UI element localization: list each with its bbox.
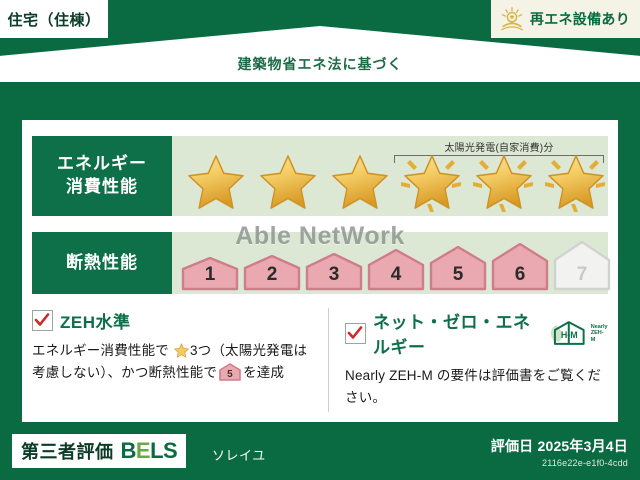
insulation-level-value: 2 xyxy=(267,265,278,291)
insulation-level-3: 3 xyxy=(304,265,364,291)
star-6-solar xyxy=(540,146,610,212)
label-card: エネルギー 消費性能 太陽光発電(自家消費)分 xyxy=(22,120,618,422)
star-4-solar xyxy=(396,146,466,212)
star-rating xyxy=(180,146,610,212)
insulation-label: 断熱性能 xyxy=(66,252,138,275)
label-title: 省エネ性能ラベル xyxy=(0,76,640,113)
evaluation-id: 2116e22e-e1f0-4cdd xyxy=(491,458,628,468)
evaluation-info: 評価日 2025年3月4日 2116e22e-e1f0-4cdd xyxy=(491,436,628,468)
zeh-body-part1: エネルギー消費性能で xyxy=(32,343,169,358)
zeh-body-part3: を達成 xyxy=(243,365,284,380)
insulation-level-value: 4 xyxy=(391,265,402,291)
insulation-level-value: 6 xyxy=(515,265,526,291)
sun-icon xyxy=(499,6,525,32)
net-zero-energy-note: ネット・ゼロ・エネルギー H-M Nearly ZEH-M Nearly xyxy=(328,308,608,412)
insulation-performance-value-area: 1 2 3 xyxy=(172,232,608,294)
insulation-performance-label-box: 断熱性能 xyxy=(32,232,172,294)
label-footer: 第三者評価 BELS ソレイユ 評価日 2025年3月4日 2116e22e-e… xyxy=(0,428,640,480)
insulation-level-6: 6 xyxy=(490,265,550,291)
zeh-m-logo-text: H-M xyxy=(561,330,578,340)
property-name: ソレイユ xyxy=(212,445,266,464)
check-icon xyxy=(34,312,50,328)
insulation-level-1: 1 xyxy=(180,265,240,291)
zeh-m-sub-line2: ZEH-M xyxy=(591,330,604,342)
title-block: 建築物省エネ法に基づく 省エネ性能ラベル xyxy=(0,54,640,113)
insulation-level-7: 7 xyxy=(552,265,612,291)
star-5-solar xyxy=(468,146,538,212)
star-icon xyxy=(547,154,605,210)
zeh-m-logo: H-M Nearly ZEH-M xyxy=(547,319,608,347)
notes-section: ZEH水準 エネルギー消費性能で 3つ（太陽光発電は考慮しない）、かつ断熱性能で… xyxy=(32,308,608,412)
net-zero-energy-title: ネット・ゼロ・エネルギー xyxy=(373,308,536,358)
bels-logo: BELS xyxy=(121,438,178,464)
energy-label-line1: エネルギー xyxy=(57,153,147,176)
star-3 xyxy=(324,146,394,212)
star-icon xyxy=(403,154,461,210)
insulation-performance-row: 断熱性能 1 2 xyxy=(32,232,608,294)
net-zero-energy-body: Nearly ZEH-M の要件は評価書をご覧ください。 xyxy=(345,365,608,409)
insulation-level-5: 5 xyxy=(428,265,488,291)
energy-label-line2: 消費性能 xyxy=(66,176,138,199)
insulation-level-value: 1 xyxy=(205,265,216,291)
bels-letter-2: E xyxy=(136,438,150,463)
inline-house-badge: 5 xyxy=(219,363,241,381)
insulation-level-2: 2 xyxy=(242,265,302,291)
zeh-m-logo-sub: Nearly ZEH-M xyxy=(591,324,608,347)
insulation-level-value: 3 xyxy=(329,265,340,291)
net-zero-energy-header: ネット・ゼロ・エネルギー H-M Nearly ZEH-M xyxy=(345,308,608,358)
zeh-standard-note: ZEH水準 エネルギー消費性能で 3つ（太陽光発電は考慮しない）、かつ断熱性能で… xyxy=(32,308,328,412)
evaluation-date: 評価日 2025年3月4日 xyxy=(491,436,628,456)
checkbox-checked xyxy=(345,323,366,344)
checkbox-checked xyxy=(32,310,53,331)
insulation-level-value: 7 xyxy=(577,265,588,291)
check-icon xyxy=(347,325,363,341)
star-icon xyxy=(259,154,317,210)
zeh-m-house-icon: H-M xyxy=(547,319,589,347)
energy-performance-value-area: 太陽光発電(自家消費)分 xyxy=(172,136,608,216)
star-icon xyxy=(331,154,389,210)
renewable-equipment-label: 再エネ設備あり xyxy=(530,9,630,29)
insulation-level-value: 5 xyxy=(453,265,464,291)
energy-performance-label-box: エネルギー 消費性能 xyxy=(32,136,172,216)
dwelling-type-tag: 住宅（住棟） xyxy=(0,0,108,38)
renewable-equipment-tag: 再エネ設備あり xyxy=(491,0,640,38)
star-1 xyxy=(180,146,250,212)
label-subtitle: 建築物省エネ法に基づく xyxy=(0,54,640,74)
zeh-standard-title: ZEH水準 xyxy=(60,308,131,333)
inline-house-value: 5 xyxy=(219,367,241,383)
energy-performance-row: エネルギー 消費性能 太陽光発電(自家消費)分 xyxy=(32,136,608,216)
star-icon xyxy=(475,154,533,210)
star-icon xyxy=(187,154,245,210)
bels-letter-1: B xyxy=(121,438,136,463)
bels-letter-3: L xyxy=(150,438,163,463)
energy-performance-label: 住宅（住棟） 再エネ設備あり 建築物省エネ法に基づく 省 xyxy=(0,0,640,480)
dwelling-type-label: 住宅（住棟） xyxy=(7,9,100,30)
third-party-evaluation-label: 第三者評価 xyxy=(21,438,114,464)
zeh-m-sub-line1: Nearly xyxy=(591,324,608,330)
bels-letter-4: S xyxy=(163,438,177,463)
insulation-level-scale: 1 2 3 xyxy=(180,265,612,291)
star-2 xyxy=(252,146,322,212)
inline-star-icon xyxy=(174,343,189,358)
zeh-standard-body: エネルギー消費性能で 3つ（太陽光発電は考慮しない）、かつ断熱性能で 5 を達成 xyxy=(32,340,318,384)
bels-badge: 第三者評価 BELS xyxy=(12,434,186,468)
zeh-standard-header: ZEH水準 xyxy=(32,308,318,333)
insulation-level-4: 4 xyxy=(366,265,426,291)
